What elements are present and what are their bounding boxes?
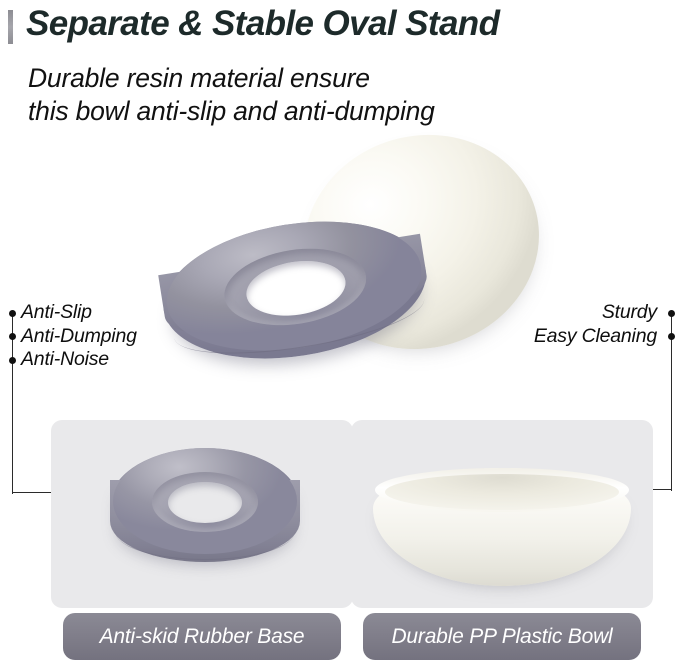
left-bullet-dot-3: [9, 357, 16, 364]
right-bullet-dot-2: [668, 333, 675, 340]
title-accent-bar: [8, 10, 13, 44]
left-bullet-dot-2: [9, 333, 16, 340]
callout-label-anti-dumping: Anti-Dumping: [21, 325, 137, 349]
hero-rubber-base-image: [151, 190, 439, 399]
left-leader-line-vertical: [12, 313, 13, 494]
left-callout-labels: Anti-Slip Anti-Dumping Anti-Noise: [21, 301, 137, 372]
rubber-base-product-image: [110, 442, 300, 590]
panel-plastic-bowl: [351, 420, 653, 608]
callout-label-anti-noise: Anti-Noise: [21, 348, 137, 372]
left-bullet-dot-1: [9, 310, 16, 317]
right-bullet-dot-1: [668, 310, 675, 317]
callout-label-anti-slip: Anti-Slip: [21, 301, 137, 325]
caption-plastic-bowl: Durable PP Plastic Bowl: [363, 613, 641, 660]
subtitle-line-2: this bowl anti-slip and anti-dumping: [28, 95, 435, 128]
caption-rubber-base: Anti-skid Rubber Base: [63, 613, 341, 660]
hero-product-illustration: [0, 130, 679, 420]
plastic-bowl-product-image: [373, 468, 631, 590]
subtitle-line-1: Durable resin material ensure: [28, 62, 435, 95]
page-title: Separate & Stable Oval Stand: [26, 2, 499, 46]
page-subtitle: Durable resin material ensure this bowl …: [28, 62, 435, 128]
panel-rubber-base: [51, 420, 353, 608]
product-infographic: Separate & Stable Oval Stand Durable res…: [0, 0, 679, 671]
base-center-hole: [168, 482, 242, 523]
callout-label-easy-cleaning: Easy Cleaning: [534, 325, 657, 349]
callout-label-sturdy: Sturdy: [534, 301, 657, 325]
bowl-interior-cavity: [385, 474, 619, 510]
right-callout-labels: Sturdy Easy Cleaning: [534, 301, 657, 348]
